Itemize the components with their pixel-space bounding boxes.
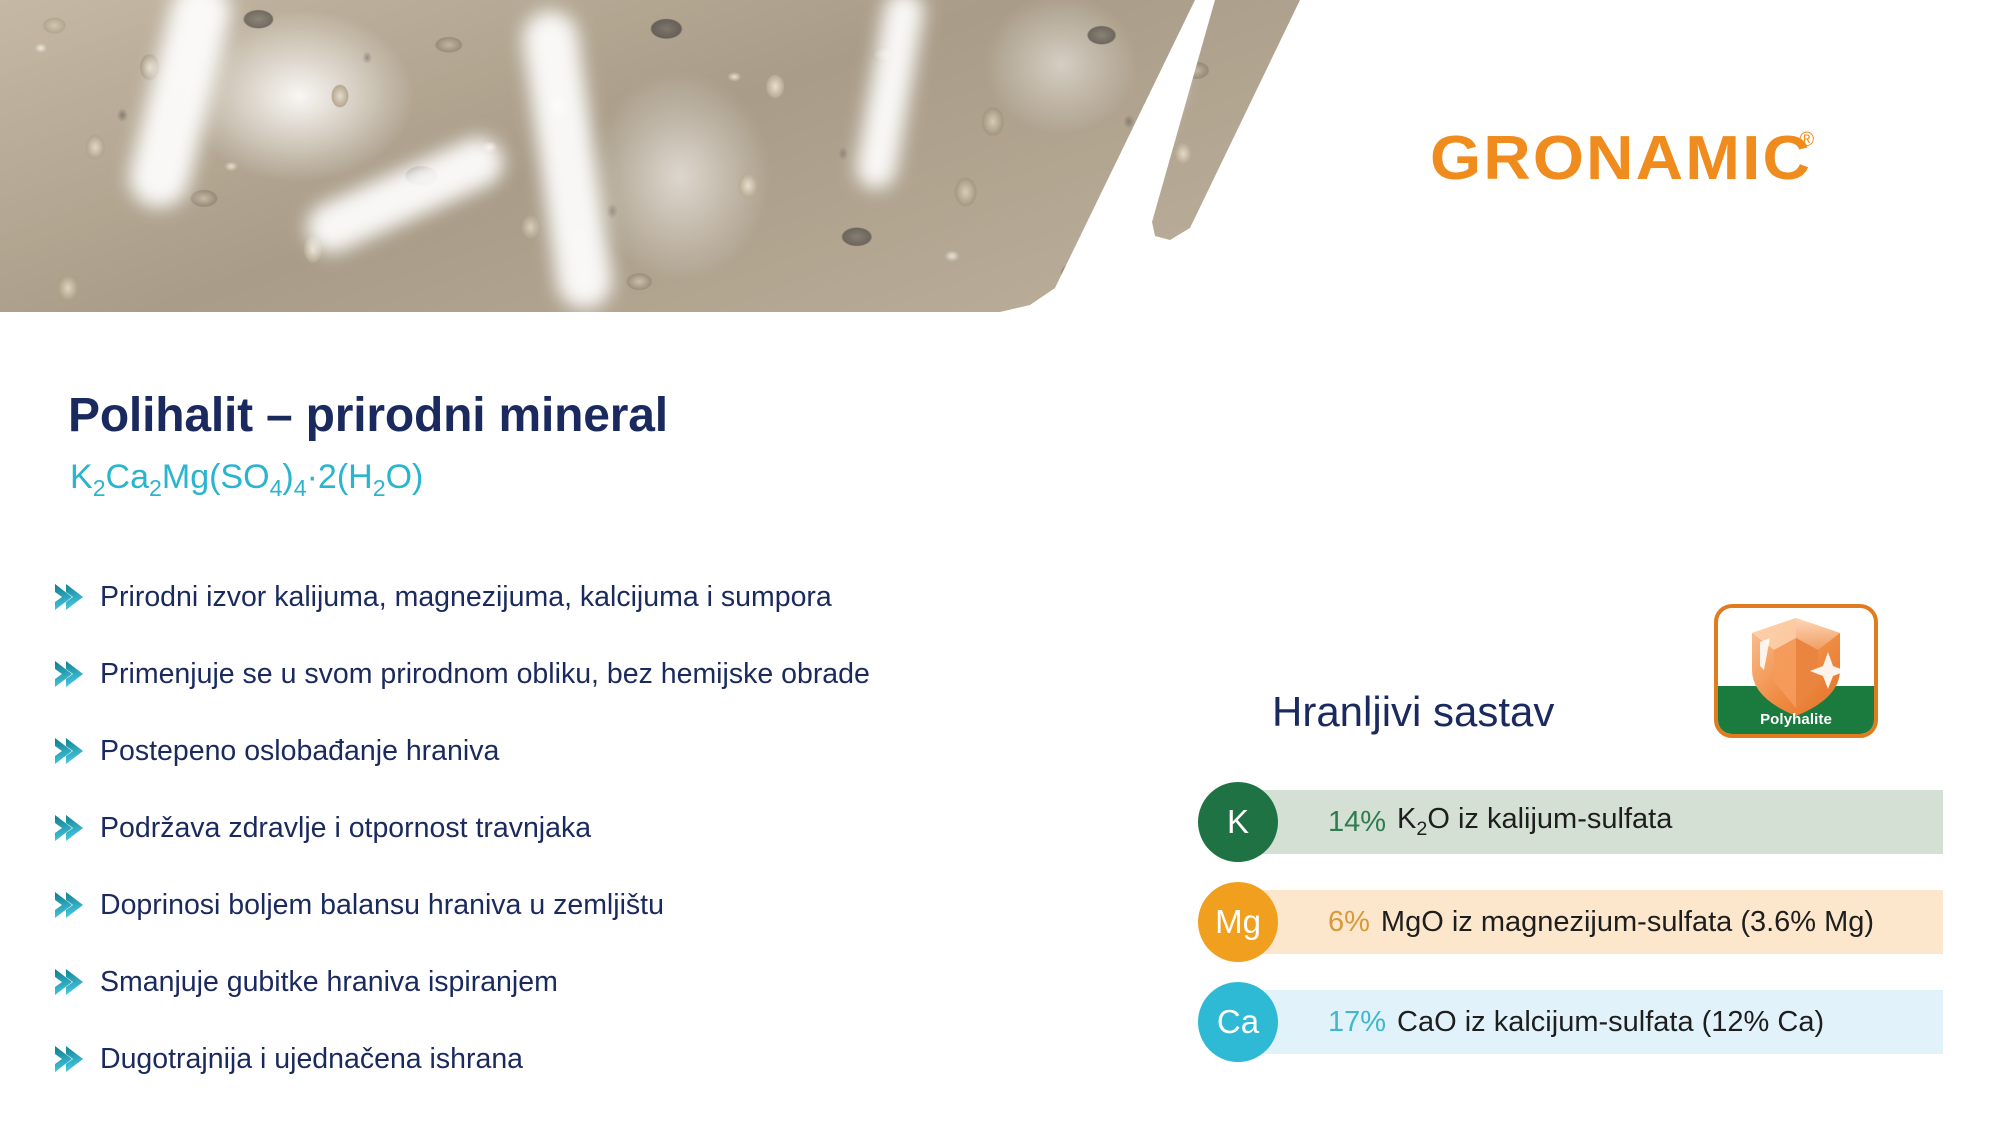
benefit-item-label: Prirodni izvor kalijuma, magnezijuma, ka…	[100, 581, 832, 614]
chevron-right-icon	[52, 1044, 86, 1074]
nutrient-percent: 6%	[1328, 906, 1370, 939]
benefit-item-label: Doprinosi boljem balansu hraniva u zemlj…	[100, 889, 664, 922]
benefit-list: Prirodni izvor kalijuma, magnezijuma, ka…	[52, 567, 1132, 1106]
polyhalite-badge: Polyhalite	[1714, 604, 1878, 738]
chevron-right-icon	[52, 736, 86, 766]
benefit-item: Postepeno oslobađanje hraniva	[52, 721, 1132, 781]
nutrient-list: 14%K2O iz kalijum-sulfataK6%MgO iz magne…	[1198, 782, 1943, 1082]
nutrient-row: 6%MgO iz magnezijum-sulfata (3.6% Mg)Mg	[1198, 882, 1943, 962]
chevron-right-icon	[52, 582, 86, 612]
nutrient-bar: 6%MgO iz magnezijum-sulfata (3.6% Mg)	[1246, 890, 1943, 954]
nutrient-row: 17%CaO iz kalcijum-sulfata (12% Ca)Ca	[1198, 982, 1943, 1062]
benefit-item-label: Primenjuje se u svom prirodnom obliku, b…	[100, 658, 870, 691]
chevron-right-icon	[52, 967, 86, 997]
nutrient-description: K2O iz kalijum-sulfata	[1397, 803, 1672, 841]
nutrient-composition-heading: Hranljivi sastav	[1272, 688, 1554, 736]
hero-photo-main	[0, 0, 1360, 320]
chevron-right-icon	[52, 890, 86, 920]
nutrient-percent: 14%	[1328, 806, 1386, 839]
hero-image-banner	[0, 0, 1360, 320]
nutrient-symbol-badge: Ca	[1198, 982, 1278, 1062]
polyhalite-badge-label: Polyhalite	[1718, 711, 1874, 728]
benefit-item: Smanjuje gubitke hraniva ispiranjem	[52, 952, 1132, 1012]
crystal-shield-icon	[1744, 612, 1848, 720]
chevron-right-icon	[52, 813, 86, 843]
benefit-item: Prirodni izvor kalijuma, magnezijuma, ka…	[52, 567, 1132, 627]
benefit-item: Primenjuje se u svom prirodnom obliku, b…	[52, 644, 1132, 704]
nutrient-bar: 14%K2O iz kalijum-sulfata	[1246, 790, 1943, 854]
gronamic-logo: GRONAMIC ®	[1430, 128, 1814, 190]
page-title: Polihalit – prirodni mineral	[68, 388, 668, 443]
chevron-right-icon	[52, 659, 86, 689]
nutrient-symbol-badge: Mg	[1198, 882, 1278, 962]
benefit-item-label: Smanjuje gubitke hraniva ispiranjem	[100, 966, 558, 999]
benefit-item-label: Podržava zdravlje i otpornost travnjaka	[100, 812, 591, 845]
nutrient-bar: 17%CaO iz kalcijum-sulfata (12% Ca)	[1246, 990, 1943, 1054]
benefit-item-label: Postepeno oslobađanje hraniva	[100, 735, 499, 768]
nutrient-row: 14%K2O iz kalijum-sulfataK	[1198, 782, 1943, 862]
benefit-item: Dugotrajnija i ujednačena ishrana	[52, 1029, 1132, 1089]
benefit-item: Doprinosi boljem balansu hraniva u zemlj…	[52, 875, 1132, 935]
benefit-item: Podržava zdravlje i otpornost travnjaka	[52, 798, 1132, 858]
nutrient-description: CaO iz kalcijum-sulfata (12% Ca)	[1397, 1006, 1824, 1039]
nutrient-symbol-badge: K	[1198, 782, 1278, 862]
nutrient-percent: 17%	[1328, 1006, 1386, 1039]
nutrient-description: MgO iz magnezijum-sulfata (3.6% Mg)	[1381, 906, 1874, 939]
chemical-formula: K2Ca2Mg(SO4)4·2(H2O)	[70, 458, 423, 502]
benefit-item-label: Dugotrajnija i ujednačena ishrana	[100, 1043, 523, 1076]
gronamic-wordmark: GRONAMIC	[1430, 128, 1812, 190]
